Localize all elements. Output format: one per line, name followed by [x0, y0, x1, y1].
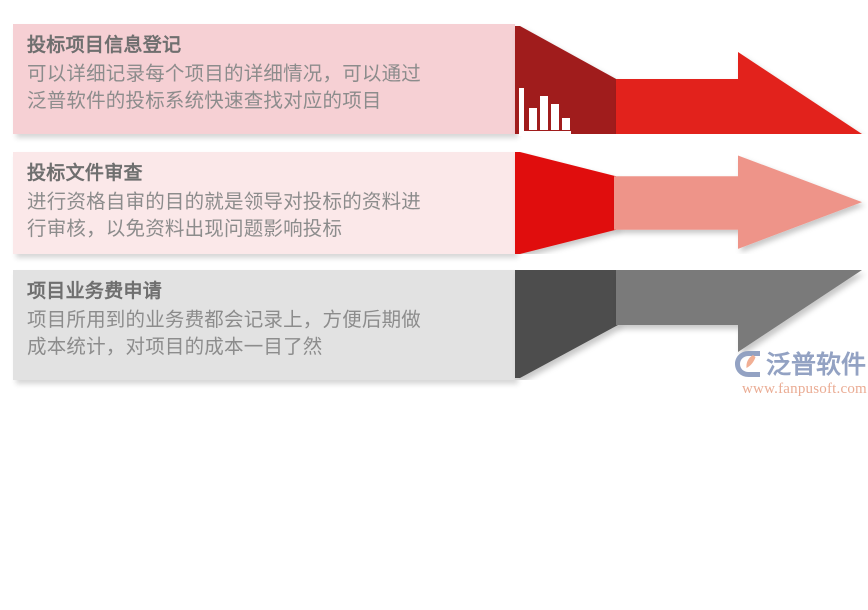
step-1-title: 投标项目信息登记 — [27, 34, 501, 58]
step-1-arrow-body — [616, 52, 862, 134]
brand-name: 泛普软件 — [766, 352, 866, 377]
process-step-row-1: 投标项目信息登记 可以详细记录每个项目的详细情况，可以通过 泛普软件的投标系统快… — [0, 24, 868, 134]
step-3-icon-block — [515, 270, 618, 378]
step-1-text-panel: 投标项目信息登记 可以详细记录每个项目的详细情况，可以通过 泛普软件的投标系统快… — [13, 24, 515, 134]
process-arrow-diagram: 投标项目信息登记 可以详细记录每个项目的详细情况，可以通过 泛普软件的投标系统快… — [0, 0, 868, 407]
step-2-text-panel: 投标文件审查 进行资格自审的目的就是领导对投标的资料进 行审核，以免资料出现问题… — [13, 152, 515, 254]
step-1-description-line-1: 可以详细记录每个项目的详细情况，可以通过 — [27, 60, 501, 88]
step-2-title: 投标文件审查 — [27, 162, 501, 186]
step-1-arrow-graphic — [510, 24, 868, 134]
step-2-icon-block — [515, 152, 616, 254]
lightbulb-icon — [524, 548, 578, 610]
step-1-description: 可以详细记录每个项目的详细情况，可以通过 泛普软件的投标系统快速查找对应的项目 — [27, 60, 501, 115]
brand-url: www.fanpusoft.com — [742, 381, 865, 398]
step-3-description-line-1: 项目所用到的业务费都会记录上，方便后期做 — [27, 306, 501, 334]
step-2-description-line-2: 行审核，以免资料出现问题影响投标 — [27, 215, 501, 243]
process-step-row-2: 投标文件审查 进行资格自审的目的就是领导对投标的资料进 行审核，以免资料出现问题… — [0, 152, 868, 254]
step-3-description-line-2: 成本统计，对项目的成本一目了然 — [27, 333, 501, 361]
step-2-description-line-1: 进行资格自审的目的就是领导对投标的资料进 — [27, 188, 501, 216]
step-2-arrow-graphic — [510, 152, 868, 254]
brand-watermark: 泛普软件 www.fanpusoft.com — [733, 349, 865, 405]
fanpu-logo-icon — [733, 349, 763, 379]
step-1-description-line-2: 泛普软件的投标系统快速查找对应的项目 — [27, 87, 501, 115]
step-2-description: 进行资格自审的目的就是领导对投标的资料进 行审核，以免资料出现问题影响投标 — [27, 188, 501, 243]
step-1-icon-block — [515, 26, 618, 134]
step-2-arrow-body — [614, 155, 862, 248]
step-3-description: 项目所用到的业务费都会记录上，方便后期做 成本统计，对项目的成本一目了然 — [27, 306, 501, 361]
step-3-arrow-body — [616, 270, 862, 352]
brand-watermark-row: 泛普软件 — [733, 349, 865, 379]
step-3-text-panel: 项目业务费申请 项目所用到的业务费都会记录上，方便后期做 成本统计，对项目的成本… — [13, 270, 515, 380]
step-3-title: 项目业务费申请 — [27, 280, 501, 304]
